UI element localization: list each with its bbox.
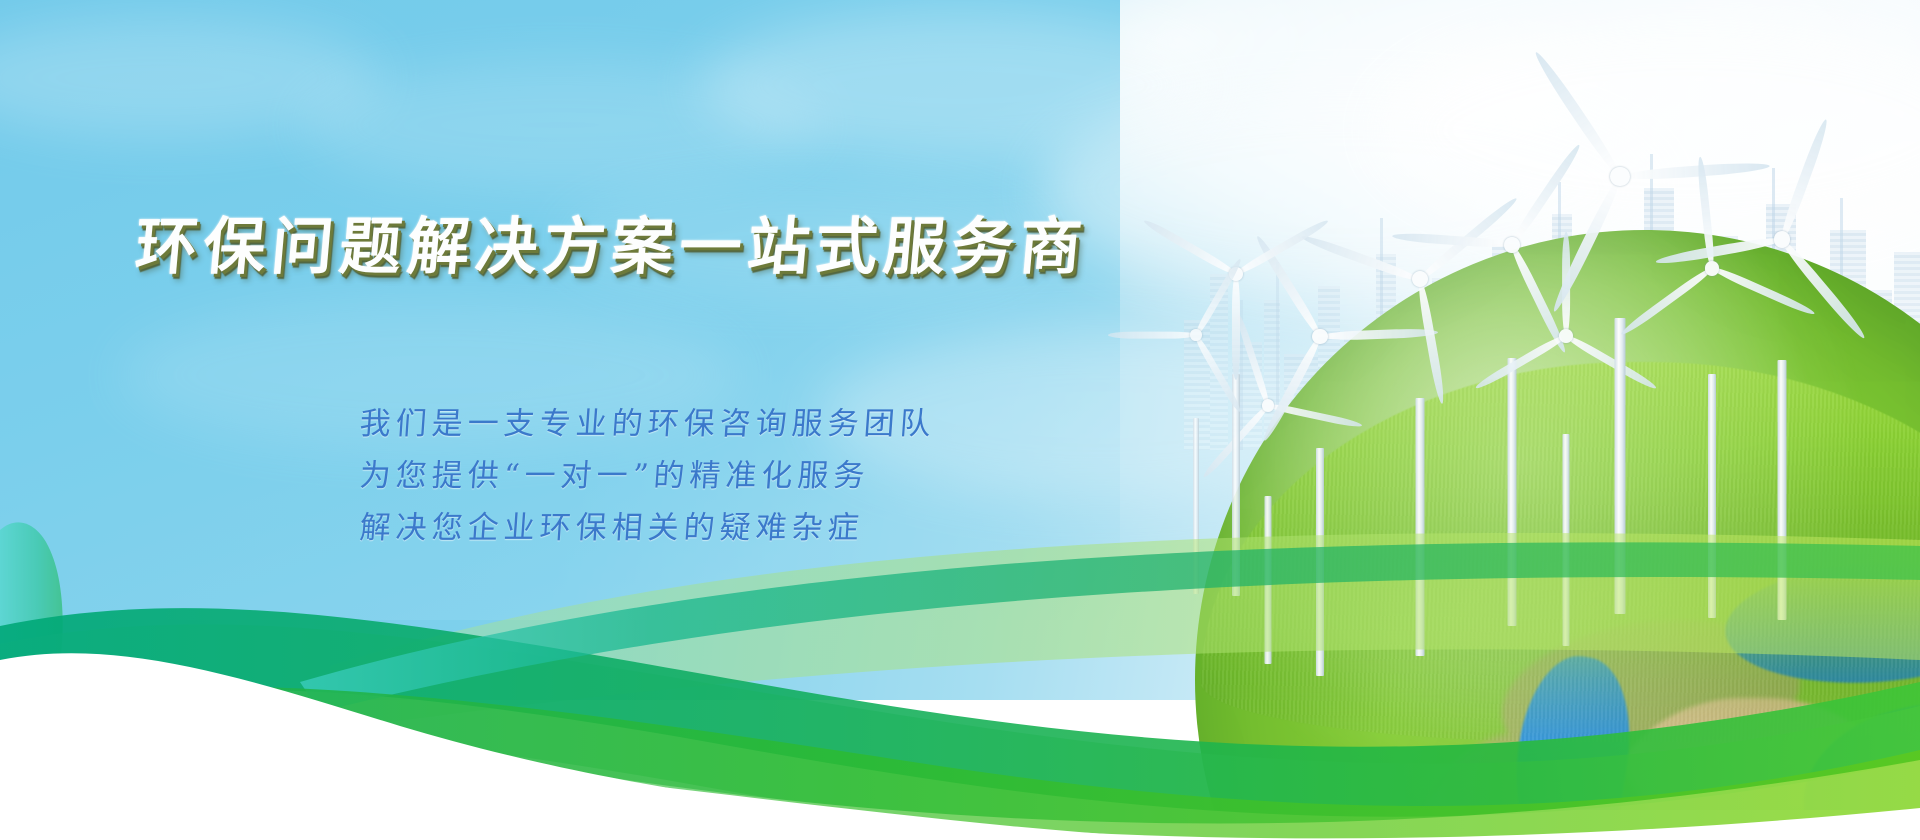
bottom-white-mask [0, 540, 1920, 840]
turbine-hub [1774, 231, 1791, 248]
turbine-hub [1610, 167, 1630, 187]
turbine-blade [1778, 236, 1868, 340]
subtitle-line-2: 为您提供“一对一”的精准化服务 [358, 450, 871, 495]
turbine-blade [1108, 332, 1196, 339]
eco-banner: 环保问题解决方案一站式服务商 我们是一支专业的环保咨询服务团队 为您提供“一对一… [0, 0, 1920, 840]
subtitle-line-1: 我们是一支专业的环保咨询服务团队 [358, 398, 937, 443]
turbine-hub [1190, 329, 1201, 340]
turbine-blade [1655, 235, 1783, 267]
subtitle-line-3: 解决您企业环保相关的疑难杂症 [358, 502, 865, 547]
page-title: 环保问题解决方案一站式服务商 [132, 196, 1092, 286]
turbine-blade [1193, 333, 1243, 413]
